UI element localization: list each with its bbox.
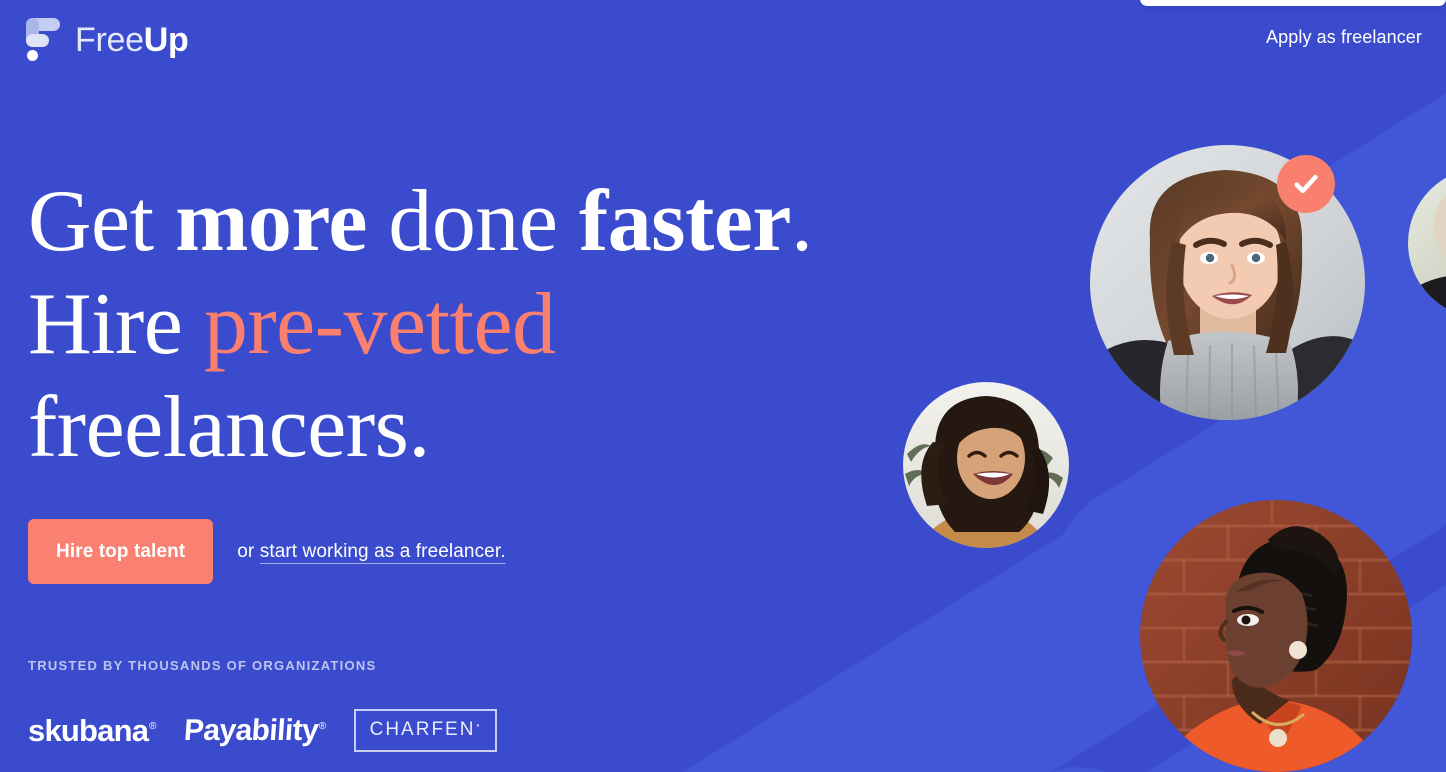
freelancer-photo-partial (1408, 168, 1446, 318)
apply-as-freelancer-link[interactable]: Apply as freelancer (1266, 27, 1422, 48)
trademark-mark: ® (149, 721, 156, 732)
partner-logo-skubana: skubana® (28, 713, 156, 749)
brand-logo-text-bold: Up (144, 21, 189, 59)
page-title: Get more done faster. Hire pre-vetted fr… (28, 170, 812, 479)
trademark-mark: ® (319, 721, 326, 732)
verified-check-icon (1277, 155, 1335, 213)
floating-panel-partial[interactable] (1140, 0, 1446, 6)
trusted-by-label: TRUSTED BY THOUSANDS OF ORGANIZATIONS (28, 658, 812, 673)
partner-logo-charfen: CHARFEN• (354, 709, 498, 752)
headline-line-3: freelancers. (28, 376, 812, 479)
hire-top-talent-button[interactable]: Hire top talent (28, 519, 213, 584)
brand-logo[interactable]: FreeUp (22, 16, 188, 64)
freelancer-photo-orange (1140, 500, 1412, 772)
partner-name: skubana (28, 713, 148, 748)
start-working-as-freelancer-link[interactable]: start working as a freelancer. (260, 541, 506, 562)
secondary-cta-text: or start working as a freelancer. (237, 541, 505, 563)
headline-text: Hire (28, 276, 204, 373)
headline-text: . (791, 173, 813, 270)
partner-logos: skubana® Payability® CHARFEN• (28, 709, 812, 752)
partner-name: Payability (183, 714, 319, 748)
top-navigation-bar: FreeUp Apply as freelancer (0, 0, 1446, 82)
partner-name: CHARFEN (370, 719, 476, 740)
hero-content: Get more done faster. Hire pre-vetted fr… (28, 170, 812, 752)
hero-section: FreeUp Apply as freelancer Get more done… (0, 0, 1446, 772)
cta-row: Hire top talent or start working as a fr… (28, 519, 812, 584)
headline-text: Get (28, 173, 175, 270)
freeup-f-mark-icon (22, 16, 62, 64)
headline-bold-more: more (175, 173, 367, 270)
headline-line-1: Get more done faster. (28, 170, 812, 273)
brand-logo-text: FreeUp (75, 21, 188, 60)
freelancer-photo-smiling (903, 382, 1069, 548)
partner-logo-payability: Payability® (184, 714, 326, 748)
trademark-mark: • (476, 721, 481, 730)
headline-accent-pre-vetted: pre-vetted (204, 276, 556, 373)
cta-prefix-text: or (237, 541, 259, 562)
headline-bold-faster: faster (579, 173, 791, 270)
headline-text: done (367, 173, 579, 270)
brand-logo-text-light: Free (75, 21, 144, 59)
headline-line-2: Hire pre-vetted (28, 273, 812, 376)
